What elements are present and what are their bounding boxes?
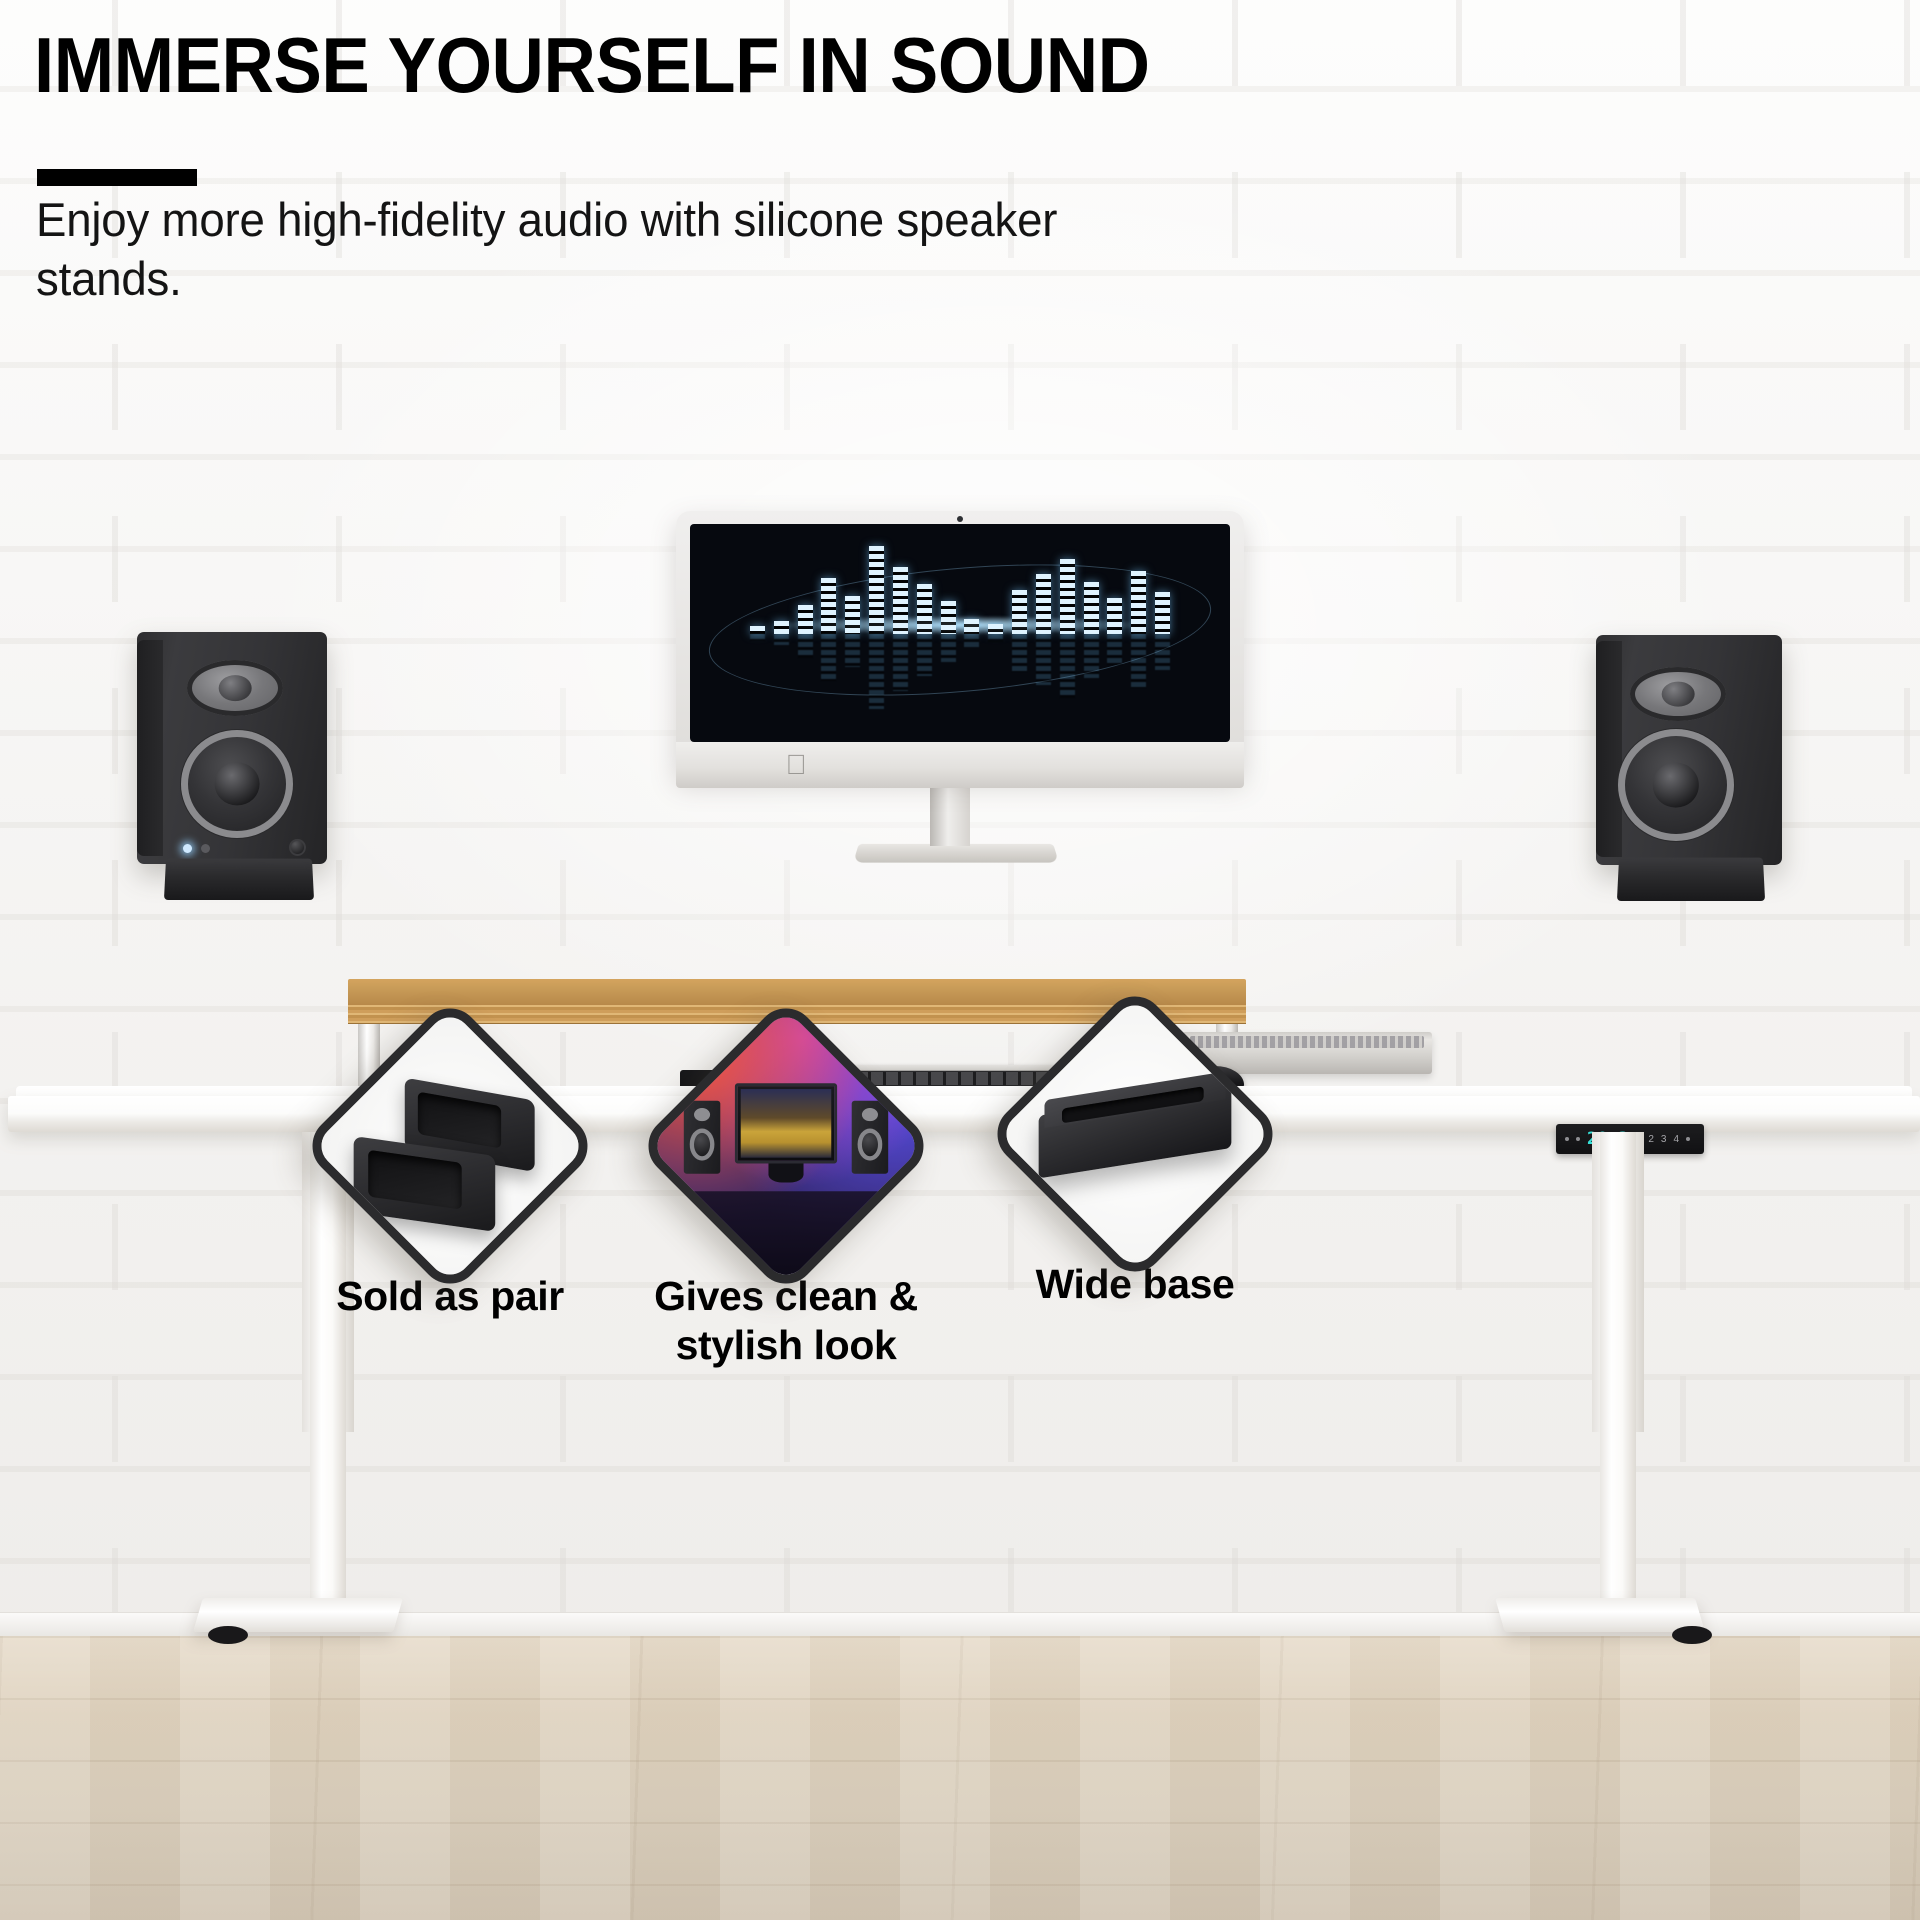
feature-1-image	[308, 1004, 591, 1287]
feature-2-monitor-content	[741, 1090, 831, 1158]
feature-2-image	[644, 1004, 927, 1287]
feature-2-speaker-left-woofer	[690, 1129, 715, 1161]
feature-2-speaker-left	[684, 1101, 721, 1175]
feature-wide-base: Wide base	[985, 1028, 1285, 1309]
feature-callouts: Sold as pair Gives	[0, 0, 1920, 1920]
feature-2-caption-line2: stylish look	[676, 1322, 897, 1368]
feature-1-diamond	[300, 996, 600, 1296]
feature-2-monitor	[735, 1084, 837, 1163]
feature-2-monitor-stand	[769, 1163, 803, 1183]
feature-2-speaker-right-tweeter	[861, 1108, 877, 1121]
feature-sold-as-pair: Sold as pair	[300, 1040, 600, 1321]
feature-2-speaker-right-woofer	[857, 1129, 882, 1161]
feature-2-diamond	[636, 996, 936, 1296]
feature-clean-stylish-look: Gives clean & stylish look	[636, 1040, 936, 1370]
feature-3-diamond	[985, 984, 1285, 1284]
feature-2-caption: Gives clean & stylish look	[636, 1272, 936, 1370]
feature-2-speaker-right	[851, 1101, 888, 1175]
feature-2-speaker-left-tweeter	[694, 1108, 710, 1121]
feature-3-image	[993, 992, 1276, 1275]
